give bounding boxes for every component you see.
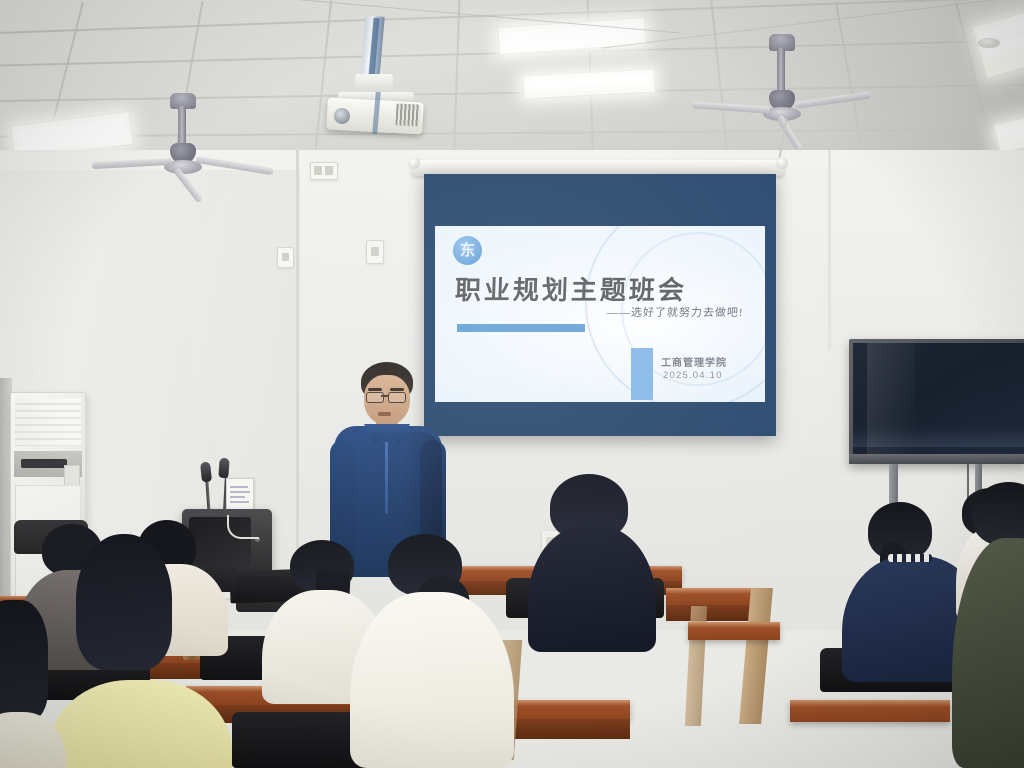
ac-louvers [15,398,81,446]
wall-outlet-left[interactable] [277,247,294,268]
glasses-bridge [381,395,388,397]
display-panel [853,343,1024,454]
projector-mount [355,74,393,94]
slide-subtitle: ——选好了就努力去做吧! [607,304,765,320]
student-collar-trim [888,554,932,562]
slide-accent-block [631,348,653,400]
projector-lens [334,108,350,124]
desk-right-lower [688,622,780,640]
ac-brand-badge [64,465,80,487]
slide-date: 2025.04.10 [663,370,723,381]
student-hair [76,534,172,670]
wall-switch-upper[interactable] [310,162,338,180]
display-bezel [849,454,1024,464]
glasses-icon [366,392,384,403]
student-torso [350,592,514,768]
presenter-eyebrow [368,388,382,391]
screen-roller-endcap [776,157,788,169]
slide-accent-bar [457,324,585,332]
fan-rod [178,106,186,146]
ac-display-screen [21,459,67,468]
projector-vent [395,103,420,126]
microphone-left[interactable] [200,462,212,483]
wall-outlet-right[interactable] [366,240,384,264]
slide-title: 职业规划主题班会 [454,270,720,307]
slide-organization: 工商管理学院 [661,354,727,369]
presenter-zipper [385,442,388,514]
microphone-right[interactable] [218,458,229,479]
screen-roller-endcap [408,157,420,169]
emblem-glyph: 东 [460,243,475,258]
presenter-eyebrow [390,388,404,391]
student-torso [528,526,656,652]
podium-name-card [226,478,254,513]
presenter-mouth [378,412,391,416]
glasses-icon [388,392,406,403]
fan-rod [777,48,785,92]
smoke-detector [978,38,1000,48]
flat-panel-display[interactable] [849,339,1024,464]
wall-seam [296,150,299,580]
desk-right-front [790,700,950,722]
display-reflection [853,427,1024,447]
wall-seam [828,150,831,350]
student-hair [0,600,48,720]
presentation-slide: 东 职业规划主题班会 ——选好了就努力去做吧! 工商管理学院 2025.04.1… [435,226,765,402]
projection-screen[interactable]: 东 职业规划主题班会 ——选好了就努力去做吧! 工商管理学院 2025.04.1… [424,174,776,436]
university-emblem-icon: 东 [453,236,482,265]
podium-cable [227,515,259,539]
classroom-photo: 东 职业规划主题班会 ——选好了就努力去做吧! 工商管理学院 2025.04.1… [0,0,1024,768]
